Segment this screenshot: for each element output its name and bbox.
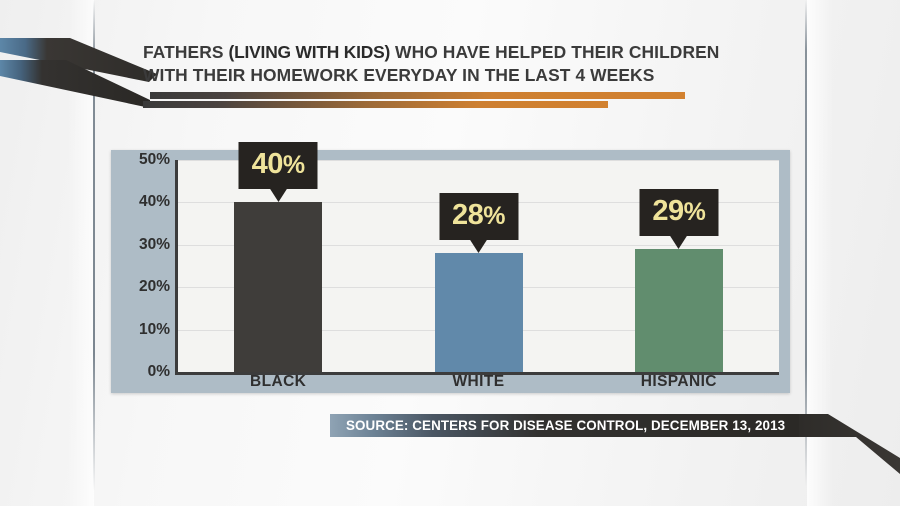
value-label: 29%	[639, 189, 718, 236]
ribbon-bottom-right	[790, 414, 900, 474]
x-tick-label-hispanic: HISPANIC	[641, 373, 717, 391]
value-label: 28%	[439, 193, 518, 240]
y-tick-label: 50%	[114, 151, 170, 169]
backdrop-seam-right	[805, 0, 807, 506]
chart-panel: 0%10%20%30%40%50% BLACKWHITEHISPANIC 40%…	[111, 150, 790, 393]
title-line1-part-b: WHO HAVE HELPED THEIR CHILDREN	[390, 42, 719, 62]
value-callout-black: 40%	[239, 142, 318, 189]
bar-black[interactable]	[234, 202, 322, 372]
graphic-stage: FATHERS (LIVING WITH KIDS) WHO HAVE HELP…	[0, 0, 900, 506]
y-tick-label: 40%	[114, 193, 170, 211]
value-callout-hispanic: 29%	[639, 189, 718, 236]
backdrop-seam-left	[93, 0, 95, 506]
title-line2: WITH THEIR HOMEWORK EVERYDAY IN THE LAST…	[143, 65, 654, 85]
accent-rule-lower	[143, 101, 608, 108]
title-line1-part-a: FATHERS	[143, 42, 229, 62]
ribbon-top-upper	[0, 38, 157, 82]
bar-hispanic[interactable]	[635, 249, 723, 372]
y-tick-label: 0%	[114, 363, 170, 381]
ribbon-top-lower	[0, 60, 150, 108]
y-tick-label: 30%	[114, 236, 170, 254]
callout-pointer-icon	[269, 188, 287, 202]
y-tick-label: 10%	[114, 321, 170, 339]
page-title: FATHERS (LIVING WITH KIDS) WHO HAVE HELP…	[143, 41, 783, 87]
source-banner: SOURCE: CENTERS FOR DISEASE CONTROL, DEC…	[330, 414, 799, 437]
bar-white[interactable]	[435, 253, 523, 372]
title-line1-emphasis: (LIVING WITH KIDS)	[229, 42, 391, 62]
backdrop-glow-right	[807, 0, 833, 506]
backdrop-glow-left	[68, 0, 94, 506]
value-label: 40%	[239, 142, 318, 189]
source-text: SOURCE: CENTERS FOR DISEASE CONTROL, DEC…	[346, 418, 785, 433]
accent-rule-upper	[150, 92, 685, 99]
value-callout-white: 28%	[439, 193, 518, 240]
y-tick-label: 20%	[114, 278, 170, 296]
x-tick-label-white: WHITE	[453, 373, 505, 391]
callout-pointer-icon	[670, 235, 688, 249]
callout-pointer-icon	[470, 239, 488, 253]
x-tick-label-black: BLACK	[250, 373, 306, 391]
bar-slot[interactable]	[435, 160, 523, 372]
